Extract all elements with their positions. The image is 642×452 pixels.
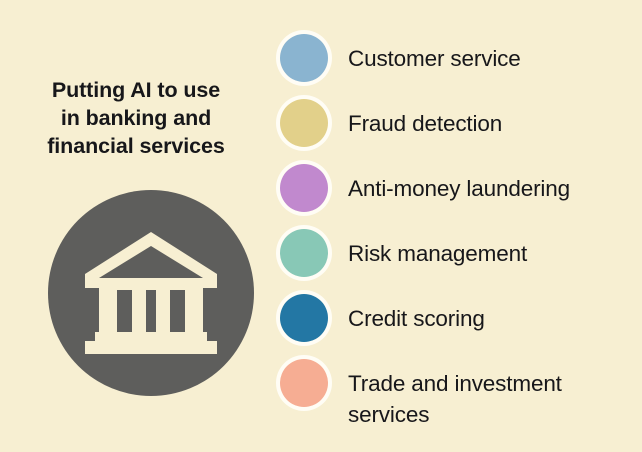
bank-building-icon (85, 232, 217, 354)
legend-list: Customer service Fraud detection Anti-mo… (272, 0, 642, 452)
legend-item-label: Trade and investment services (348, 368, 638, 430)
legend-item-label: Customer service (348, 43, 638, 74)
bank-badge-circle (48, 190, 254, 396)
legend-swatch-icon (280, 34, 328, 82)
ai-banking-infographic: Putting AI to use in banking and financi… (0, 0, 642, 452)
legend-swatch-icon (280, 99, 328, 147)
list-item[interactable]: Credit scoring (272, 294, 642, 354)
list-item[interactable]: Fraud detection (272, 99, 642, 159)
legend-item-label: Credit scoring (348, 303, 638, 334)
legend-item-label: Anti-money laundering (348, 173, 638, 204)
legend-swatch-icon (280, 229, 328, 277)
list-item[interactable]: Anti-money laundering (272, 164, 642, 224)
title-and-icon-panel: Putting AI to use in banking and financi… (0, 0, 272, 452)
legend-item-label: Risk management (348, 238, 638, 269)
page-title: Putting AI to use in banking and financi… (8, 76, 264, 160)
legend-swatch-icon (280, 359, 328, 407)
list-item[interactable]: Risk management (272, 229, 642, 289)
legend-swatch-icon (280, 294, 328, 342)
list-item[interactable]: Trade and investment services (272, 359, 642, 419)
legend-item-label: Fraud detection (348, 108, 638, 139)
legend-swatch-icon (280, 164, 328, 212)
list-item[interactable]: Customer service (272, 34, 642, 94)
